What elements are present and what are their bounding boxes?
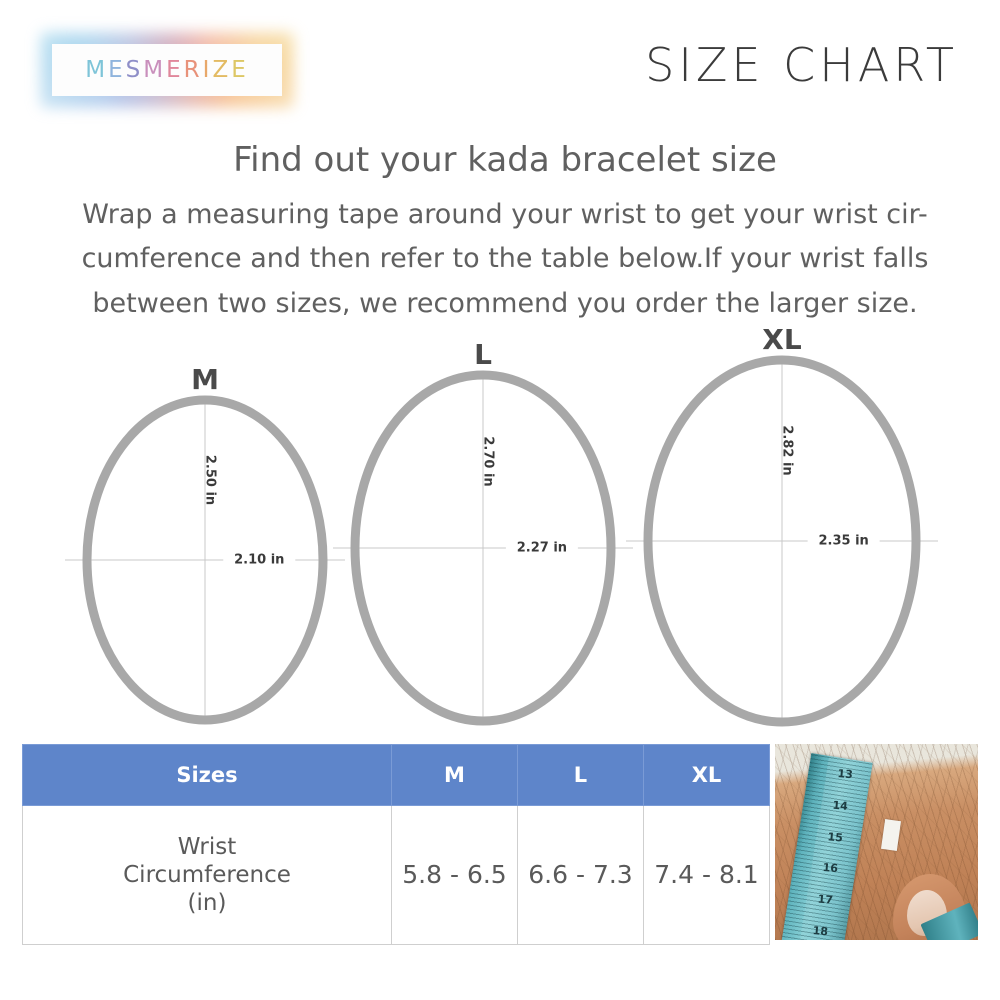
intro-line-1: Wrap a measuring tape around your wrist … — [50, 193, 960, 238]
brand-letter-3: M — [143, 57, 166, 83]
table-header-row: Sizes M L XL — [23, 745, 770, 806]
table-row: Wrist Circumference (in) 5.8 - 6.5 6.6 -… — [23, 806, 770, 945]
row-label-wrist-circumference: Wrist Circumference (in) — [23, 806, 392, 945]
table-header-xl: XL — [644, 745, 770, 806]
table-header-sizes: Sizes — [23, 745, 392, 806]
brand-letter-0: M — [85, 57, 108, 83]
brand-letter-8: E — [231, 57, 249, 83]
brand-logo: MESMERIZE — [52, 44, 282, 96]
oval-M-height-label: 2.50 in — [203, 455, 218, 505]
oval-label-xl: XL — [760, 326, 804, 354]
logo-plate: MESMERIZE — [52, 44, 282, 96]
oval-L-height-label: 2.70 in — [481, 436, 496, 486]
intro-line-2: cumference and then refer to the table b… — [50, 237, 960, 282]
intro-block: Find out your kada bracelet size Wrap a … — [50, 140, 960, 326]
tape-number-14: 14 — [832, 800, 848, 812]
row-label-line-3: (in) — [24, 889, 390, 917]
tape-number-17: 17 — [818, 893, 834, 905]
tape-number-13: 13 — [837, 768, 853, 780]
page-title: SIZE CHART — [645, 42, 958, 88]
oval-diagram-svg: 2.50 in2.10 in2.70 in2.27 in2.82 in2.35 … — [0, 348, 1000, 748]
tape-number-15: 15 — [827, 831, 843, 843]
wrist-measurement-photo: 131415161718 — [775, 744, 978, 940]
brand-letter-4: E — [166, 57, 184, 83]
cell-wrist-m: 5.8 - 6.5 — [392, 806, 518, 945]
tape-number-18: 18 — [813, 925, 829, 937]
oval-label-m: M — [183, 366, 227, 394]
table-body: Wrist Circumference (in) 5.8 - 6.5 6.6 -… — [23, 806, 770, 945]
intro-heading: Find out your kada bracelet size — [50, 140, 960, 181]
row-label-line-2: Circumference — [24, 861, 390, 889]
oval-XL-height-label: 2.82 in — [780, 425, 795, 475]
brand-letter-6: I — [203, 57, 213, 83]
brand-letter-5: R — [184, 57, 203, 83]
oval-L-width-label: 2.27 in — [517, 541, 567, 556]
brand-letter-2: S — [126, 57, 144, 83]
oval-diagram: 2.50 in2.10 in2.70 in2.27 in2.82 in2.35 … — [0, 348, 1000, 748]
brand-letter-1: E — [108, 57, 126, 83]
row-label-line-1: Wrist — [24, 833, 390, 861]
size-chart-page: MESMERIZE SIZE CHART Find out your kada … — [0, 0, 1000, 1000]
oval-M-width-label: 2.10 in — [234, 553, 284, 568]
table-header-l: L — [518, 745, 644, 806]
table-header: Sizes M L XL — [23, 745, 770, 806]
cell-wrist-l: 6.6 - 7.3 — [518, 806, 644, 945]
brand-letter-7: Z — [212, 57, 231, 83]
cell-wrist-xl: 7.4 - 8.1 — [644, 806, 770, 945]
tape-number-16: 16 — [822, 862, 838, 874]
oval-XL-width-label: 2.35 in — [818, 534, 868, 549]
brand-name: MESMERIZE — [85, 57, 249, 83]
intro-line-3: between two sizes, we recommend you orde… — [50, 282, 960, 327]
table-header-m: M — [392, 745, 518, 806]
oval-label-l: L — [461, 341, 505, 369]
size-table: Sizes M L XL Wrist Circumference (in) 5.… — [22, 744, 770, 945]
